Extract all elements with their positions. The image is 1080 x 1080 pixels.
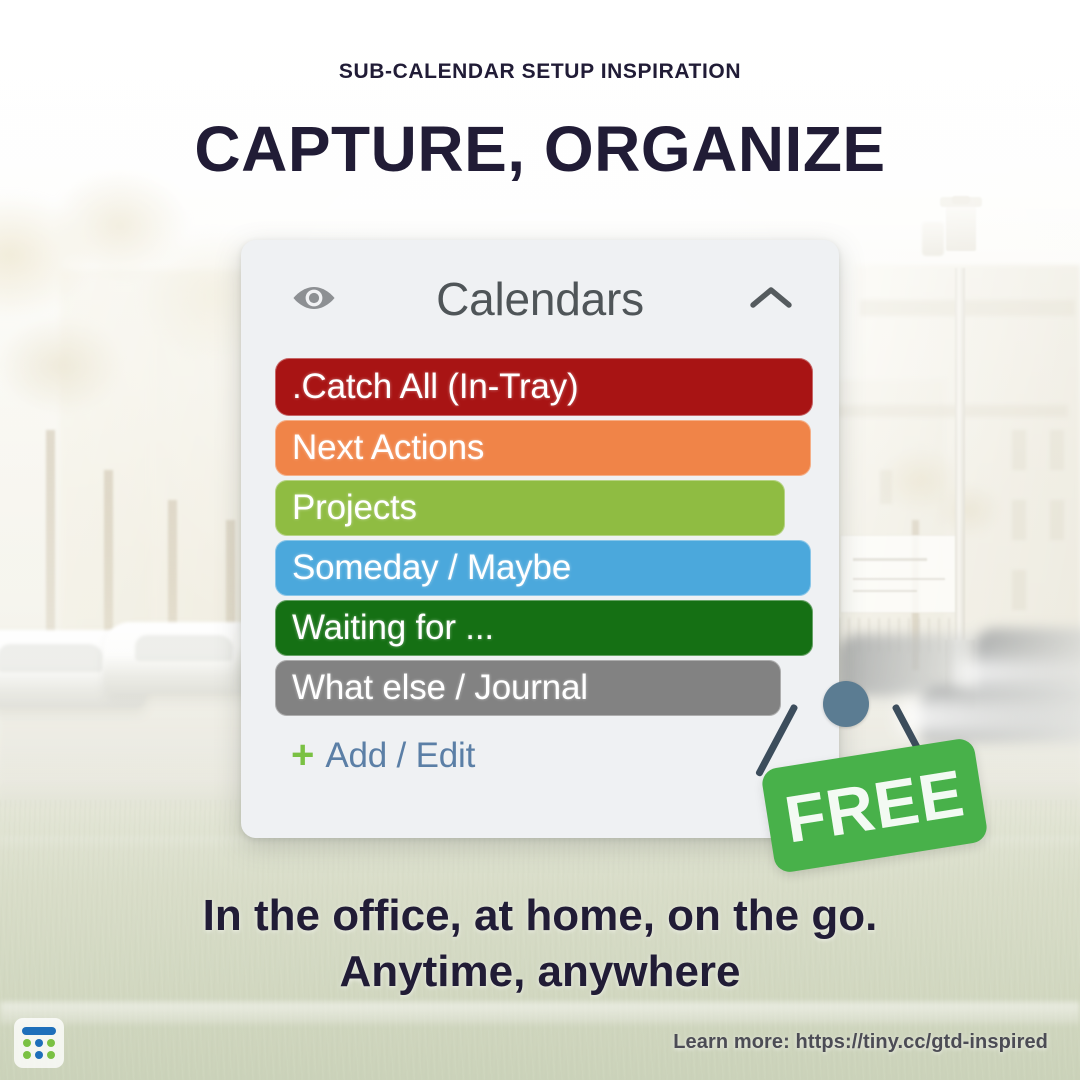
plus-icon: +	[291, 735, 314, 775]
calendar-item-label: Next Actions	[292, 428, 484, 468]
photo-billboard	[840, 535, 960, 613]
calendar-item-label: Waiting for ...	[292, 608, 494, 648]
teamup-calendar-logo-icon[interactable]	[14, 1018, 64, 1068]
logo-dot	[35, 1051, 43, 1059]
chevron-up-icon[interactable]	[747, 280, 795, 316]
tagline: In the office, at home, on the go. Anyti…	[0, 888, 1080, 1001]
eye-icon[interactable]	[290, 281, 338, 315]
logo-dot-grid	[22, 1039, 56, 1059]
badge-label: FREE	[780, 754, 970, 857]
badge-body: FREE	[760, 737, 989, 874]
add-edit-label: Add / Edit	[325, 736, 475, 776]
photo-cornice	[860, 300, 1075, 316]
photo-window	[1050, 500, 1064, 540]
photo-window	[1050, 430, 1064, 470]
calendar-item[interactable]: .Catch All (In-Tray)	[275, 358, 813, 416]
photo-window	[1012, 430, 1026, 470]
poster-canvas: SUB-CALENDAR SETUP INSPIRATION CAPTURE, …	[0, 0, 1080, 1080]
calendar-item[interactable]: Someday / Maybe	[275, 540, 811, 596]
logo-dot	[35, 1039, 43, 1047]
photo-window	[1012, 500, 1026, 540]
calendar-item-label: .Catch All (In-Tray)	[292, 367, 578, 407]
photo-cornice	[818, 405, 1068, 417]
calendar-item-label: Someday / Maybe	[292, 548, 571, 588]
logo-dot	[47, 1051, 55, 1059]
calendar-item-label: What else / Journal	[292, 668, 588, 708]
calendar-item[interactable]: What else / Journal	[275, 660, 781, 716]
free-badge: FREE	[755, 675, 1005, 865]
calendar-item[interactable]: Next Actions	[275, 420, 811, 476]
add-edit-button[interactable]: + Add / Edit	[275, 720, 813, 776]
photo-lamppost-cap	[952, 196, 970, 204]
logo-dot	[23, 1039, 31, 1047]
calendars-panel: Calendars .Catch All (In-Tray) Next Acti…	[241, 240, 839, 838]
badge-pin-icon	[823, 681, 869, 727]
tagline-line-1: In the office, at home, on the go.	[0, 888, 1080, 944]
calendar-item-label: Projects	[292, 488, 417, 528]
calendars-panel-header: Calendars	[241, 240, 839, 358]
logo-dot	[23, 1051, 31, 1059]
calendar-item[interactable]: Projects	[275, 480, 785, 536]
calendar-item[interactable]: Waiting for ...	[275, 600, 813, 656]
logo-top-bar	[22, 1027, 56, 1035]
calendar-list: .Catch All (In-Tray) Next Actions Projec…	[241, 358, 839, 776]
photo-lamppost-lantern-small	[922, 222, 944, 256]
photo-window	[1012, 570, 1026, 610]
kicker-text: SUB-CALENDAR SETUP INSPIRATION	[0, 60, 1080, 84]
tagline-line-2: Anytime, anywhere	[0, 944, 1080, 1000]
photo-footpath	[0, 1002, 1080, 1024]
learn-more-link[interactable]: Learn more: https://tiny.cc/gtd-inspired	[673, 1031, 1048, 1054]
photo-lamppost-lantern	[946, 205, 976, 251]
page-title: CAPTURE, ORGANIZE	[0, 112, 1080, 186]
logo-dot	[47, 1039, 55, 1047]
